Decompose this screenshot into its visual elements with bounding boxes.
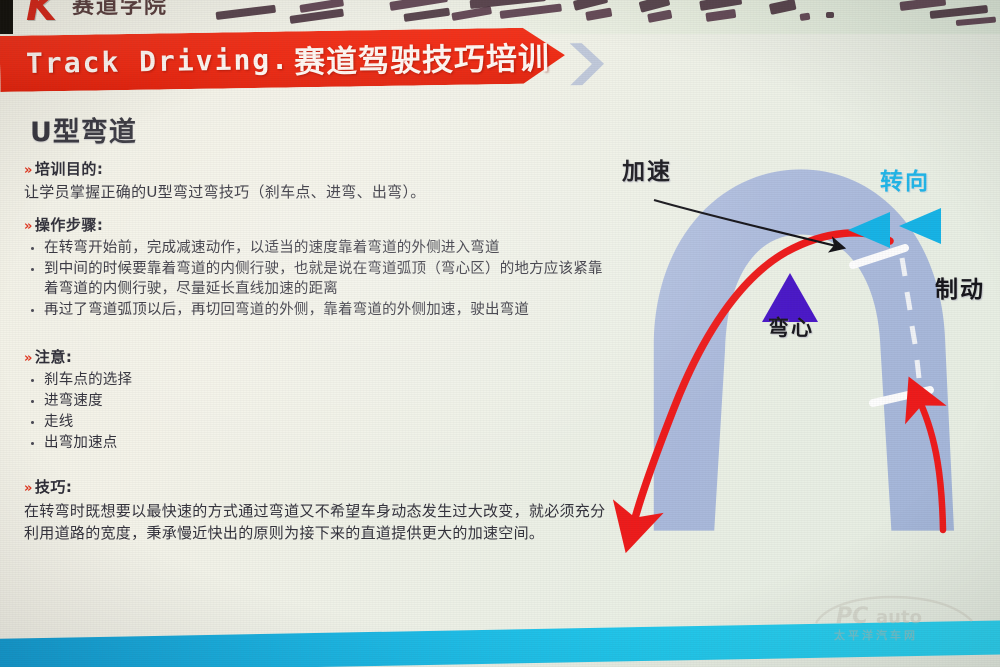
section-steps: » 操作步骤: 在转弯开始前，完成减速动作，以适当的速度靠着弯道的外侧进入弯道 … xyxy=(24,214,614,321)
title-banner: Track Driving.赛道驾驶技巧培训 xyxy=(0,34,1000,96)
pcauto-logo-icon: PC auto xyxy=(806,589,986,631)
section-title: 技巧: xyxy=(35,476,73,497)
section-purpose: » 培训目的: 让学员掌握正确的U型弯过弯技巧（刹车点、进弯、出弯）。 xyxy=(24,158,614,203)
banner-title: Track Driving.赛道驾驶技巧培训 xyxy=(26,34,551,84)
track-diagram-svg xyxy=(590,140,1000,580)
speed-streak xyxy=(585,8,612,21)
section-heading: » 注意: xyxy=(24,346,614,367)
list-item-text: 走线 xyxy=(42,412,614,432)
corner-diagram: 加速 转向 制动 弯心 xyxy=(590,140,1000,580)
list-item: 进弯速度 xyxy=(42,391,614,411)
notes-list: 刹车点的选择 进弯速度 走线 出弯加速点 xyxy=(24,370,614,453)
label-braking: 制动 xyxy=(935,270,985,304)
list-item-text: 到中间的时候要靠着弯道的内侧行驶，也就是说在弯道弧顶（弯心区）的地方应该紧靠着弯… xyxy=(42,259,614,299)
speed-streak xyxy=(826,12,834,18)
section-body: 让学员掌握正确的U型弯过弯技巧（刹车点、进弯、出弯）。 xyxy=(24,182,614,203)
section-title: 注意: xyxy=(35,346,73,367)
svg-text:PC: PC xyxy=(836,604,868,629)
speed-streak xyxy=(500,3,563,18)
speed-streak xyxy=(699,0,742,11)
slide-photo: K 赛道学院 Track Driving.赛道驾驶技巧培训 U型弯 xyxy=(0,0,1000,667)
list-item-text: 再过了弯道弧顶以后，再切回弯道的外侧，靠着弯道的外侧加速，驶出弯道 xyxy=(42,300,614,320)
speed-streak xyxy=(403,8,450,22)
section-heading: » 培训目的: xyxy=(24,158,614,179)
list-item-text: 在转弯开始前，完成减速动作，以适当的速度靠着弯道的外侧进入弯道 xyxy=(42,238,614,258)
section-title: 操作步骤: xyxy=(35,214,104,235)
list-item: 在转弯开始前，完成减速动作，以适当的速度靠着弯道的外侧进入弯道 xyxy=(42,238,614,258)
speed-streak xyxy=(769,0,797,15)
section-marker-icon: » xyxy=(24,351,33,366)
step-list: 在转弯开始前，完成减速动作，以适当的速度靠着弯道的外侧进入弯道 到中间的时候要靠… xyxy=(24,238,614,320)
watermark-text: 太平洋汽车网 xyxy=(834,627,918,643)
section-heading: » 操作步骤: xyxy=(24,214,614,235)
speed-streak xyxy=(289,9,344,24)
list-item-text: 刹车点的选择 xyxy=(42,370,614,390)
section-marker-icon: » xyxy=(24,219,33,234)
list-item: 再过了弯道弧顶以后，再切回弯道的外侧，靠着弯道的外侧加速，驶出弯道 xyxy=(42,300,614,320)
list-item: 刹车点的选择 xyxy=(42,370,614,390)
list-item: 出弯加速点 xyxy=(42,433,614,453)
photo-dark-edge xyxy=(0,0,13,34)
label-apex: 弯心 xyxy=(768,312,814,342)
section-body: 在转弯时既想要以最快速的方式通过弯道又不希望车身动态发生过大改变，就必须充分利用… xyxy=(24,500,614,544)
watermark: PC auto 太平洋汽车网 xyxy=(806,589,986,645)
section-marker-icon: » xyxy=(24,481,33,496)
svg-text:auto: auto xyxy=(876,607,922,628)
label-steering: 转向 xyxy=(880,162,930,196)
section-title: 培训目的: xyxy=(35,158,104,179)
section-tips: » 技巧: 在转弯时既想要以最快速的方式通过弯道又不希望车身动态发生过大改变，就… xyxy=(24,476,614,544)
section-marker-icon: » xyxy=(24,163,33,178)
speed-streak xyxy=(647,10,672,23)
speed-streak xyxy=(216,5,277,20)
speed-streak xyxy=(956,17,996,26)
banner-title-en: Track Driving. xyxy=(26,42,291,79)
academy-logo-text: 赛道学院 xyxy=(72,0,168,20)
chevron-right-icon xyxy=(566,40,613,89)
academy-logo-icon: K xyxy=(26,0,72,29)
section-heading: » 技巧: xyxy=(24,476,614,497)
list-item: 到中间的时候要靠着弯道的内侧行驶，也就是说在弯道弧顶（弯心区）的地方应该紧靠着弯… xyxy=(42,259,614,299)
list-item-text: 进弯速度 xyxy=(42,391,614,411)
banner-title-cn: 赛道驾驶技巧培训 xyxy=(294,32,551,81)
page-title: U型弯道 xyxy=(30,110,137,149)
label-accelerate: 加速 xyxy=(622,152,672,186)
list-item-text: 出弯加速点 xyxy=(42,433,614,453)
section-notes: » 注意: 刹车点的选择 进弯速度 走线 出弯加速点 xyxy=(24,346,614,454)
list-item: 走线 xyxy=(42,412,614,432)
slide-content: U型弯道 » 培训目的: 让学员掌握正确的U型弯过弯技巧（刹车点、进弯、出弯）。… xyxy=(0,96,625,616)
speed-streak xyxy=(800,13,811,21)
speed-streak xyxy=(705,9,736,22)
